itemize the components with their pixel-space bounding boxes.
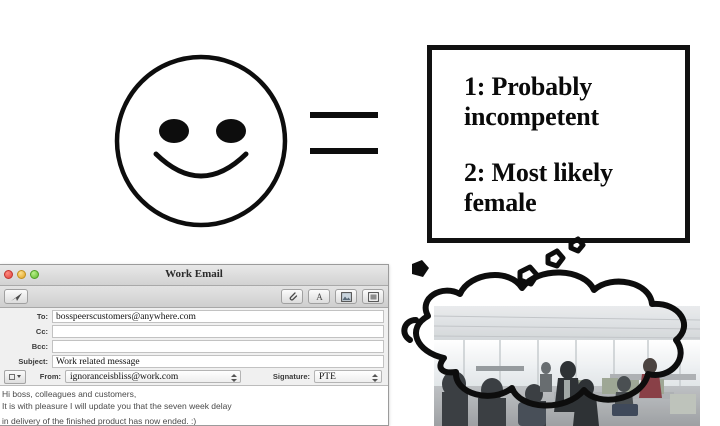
from-select[interactable]: ignoranceisbliss@work.com bbox=[65, 370, 241, 383]
trail-bubble-medium bbox=[548, 251, 563, 266]
stepper-arrows-icon bbox=[371, 372, 378, 383]
trail-bubble-large bbox=[520, 267, 537, 284]
body-line-3: in delivery of the finished product has … bbox=[2, 416, 384, 426]
signature-select-value: PTE bbox=[319, 372, 336, 382]
caption-box: 1: Probably incompetent 2: Most likely f… bbox=[427, 45, 690, 243]
toolbar-right-group[interactable]: A bbox=[281, 289, 384, 304]
stationery-icon[interactable] bbox=[362, 289, 384, 304]
subject-input[interactable]: Work related message bbox=[52, 355, 384, 368]
header-options-button[interactable] bbox=[4, 370, 26, 384]
message-body-input[interactable]: Hi boss, colleagues and customers, It is… bbox=[0, 386, 388, 426]
from-label: From: bbox=[29, 372, 65, 381]
svg-text:A: A bbox=[316, 292, 323, 302]
from-select-value: ignoranceisbliss@work.com bbox=[70, 372, 178, 382]
caption-line-1: 1: Probably incompetent bbox=[464, 72, 665, 132]
window-titlebar[interactable]: Work Email bbox=[0, 265, 388, 286]
bcc-input[interactable] bbox=[52, 340, 384, 353]
compose-toolbar[interactable]: A bbox=[0, 286, 388, 308]
smiley-face-icon bbox=[113, 53, 289, 229]
fonts-icon[interactable]: A bbox=[308, 289, 330, 304]
equals-sign bbox=[310, 112, 378, 158]
bcc-row[interactable]: Bcc: bbox=[4, 340, 384, 353]
signature-label: Signature: bbox=[273, 372, 314, 381]
cc-row[interactable]: Cc: bbox=[4, 325, 384, 338]
to-row[interactable]: To: bosspeerscustomers@anywhere.com bbox=[4, 310, 384, 323]
send-icon[interactable] bbox=[4, 289, 28, 304]
subject-row[interactable]: Subject: Work related message bbox=[4, 355, 384, 368]
body-line-1: Hi boss, colleagues and customers, bbox=[2, 389, 384, 401]
bcc-label: Bcc: bbox=[4, 342, 52, 351]
grid-icon bbox=[9, 374, 15, 380]
email-compose-window[interactable]: Work Email A To: bosspeerscustomer bbox=[0, 264, 389, 426]
cc-label: Cc: bbox=[4, 327, 52, 336]
equals-bar-bottom bbox=[310, 148, 378, 154]
compose-header-fields[interactable]: To: bosspeerscustomers@anywhere.com Cc: … bbox=[0, 308, 388, 386]
photo-browser-icon[interactable] bbox=[335, 289, 357, 304]
signature-select[interactable]: PTE bbox=[314, 370, 382, 383]
equals-bar-top bbox=[310, 112, 378, 118]
subject-label: Subject: bbox=[4, 357, 52, 366]
chevron-down-icon bbox=[17, 375, 21, 378]
page-title: Work Email bbox=[0, 268, 388, 280]
from-row[interactable]: From: ignoranceisbliss@work.com Signatur… bbox=[4, 370, 384, 383]
attachment-icon[interactable] bbox=[281, 289, 303, 304]
office-workers-photo bbox=[434, 306, 700, 426]
body-line-2: It is with pleasure I will update you th… bbox=[2, 401, 384, 413]
cc-input[interactable] bbox=[52, 325, 384, 338]
to-input[interactable]: bosspeerscustomers@anywhere.com bbox=[52, 310, 384, 323]
send-button[interactable] bbox=[4, 289, 28, 304]
to-label: To: bbox=[4, 312, 52, 321]
caption-line-2: 2: Most likely female bbox=[464, 158, 665, 218]
stepper-arrows-icon bbox=[230, 372, 237, 383]
